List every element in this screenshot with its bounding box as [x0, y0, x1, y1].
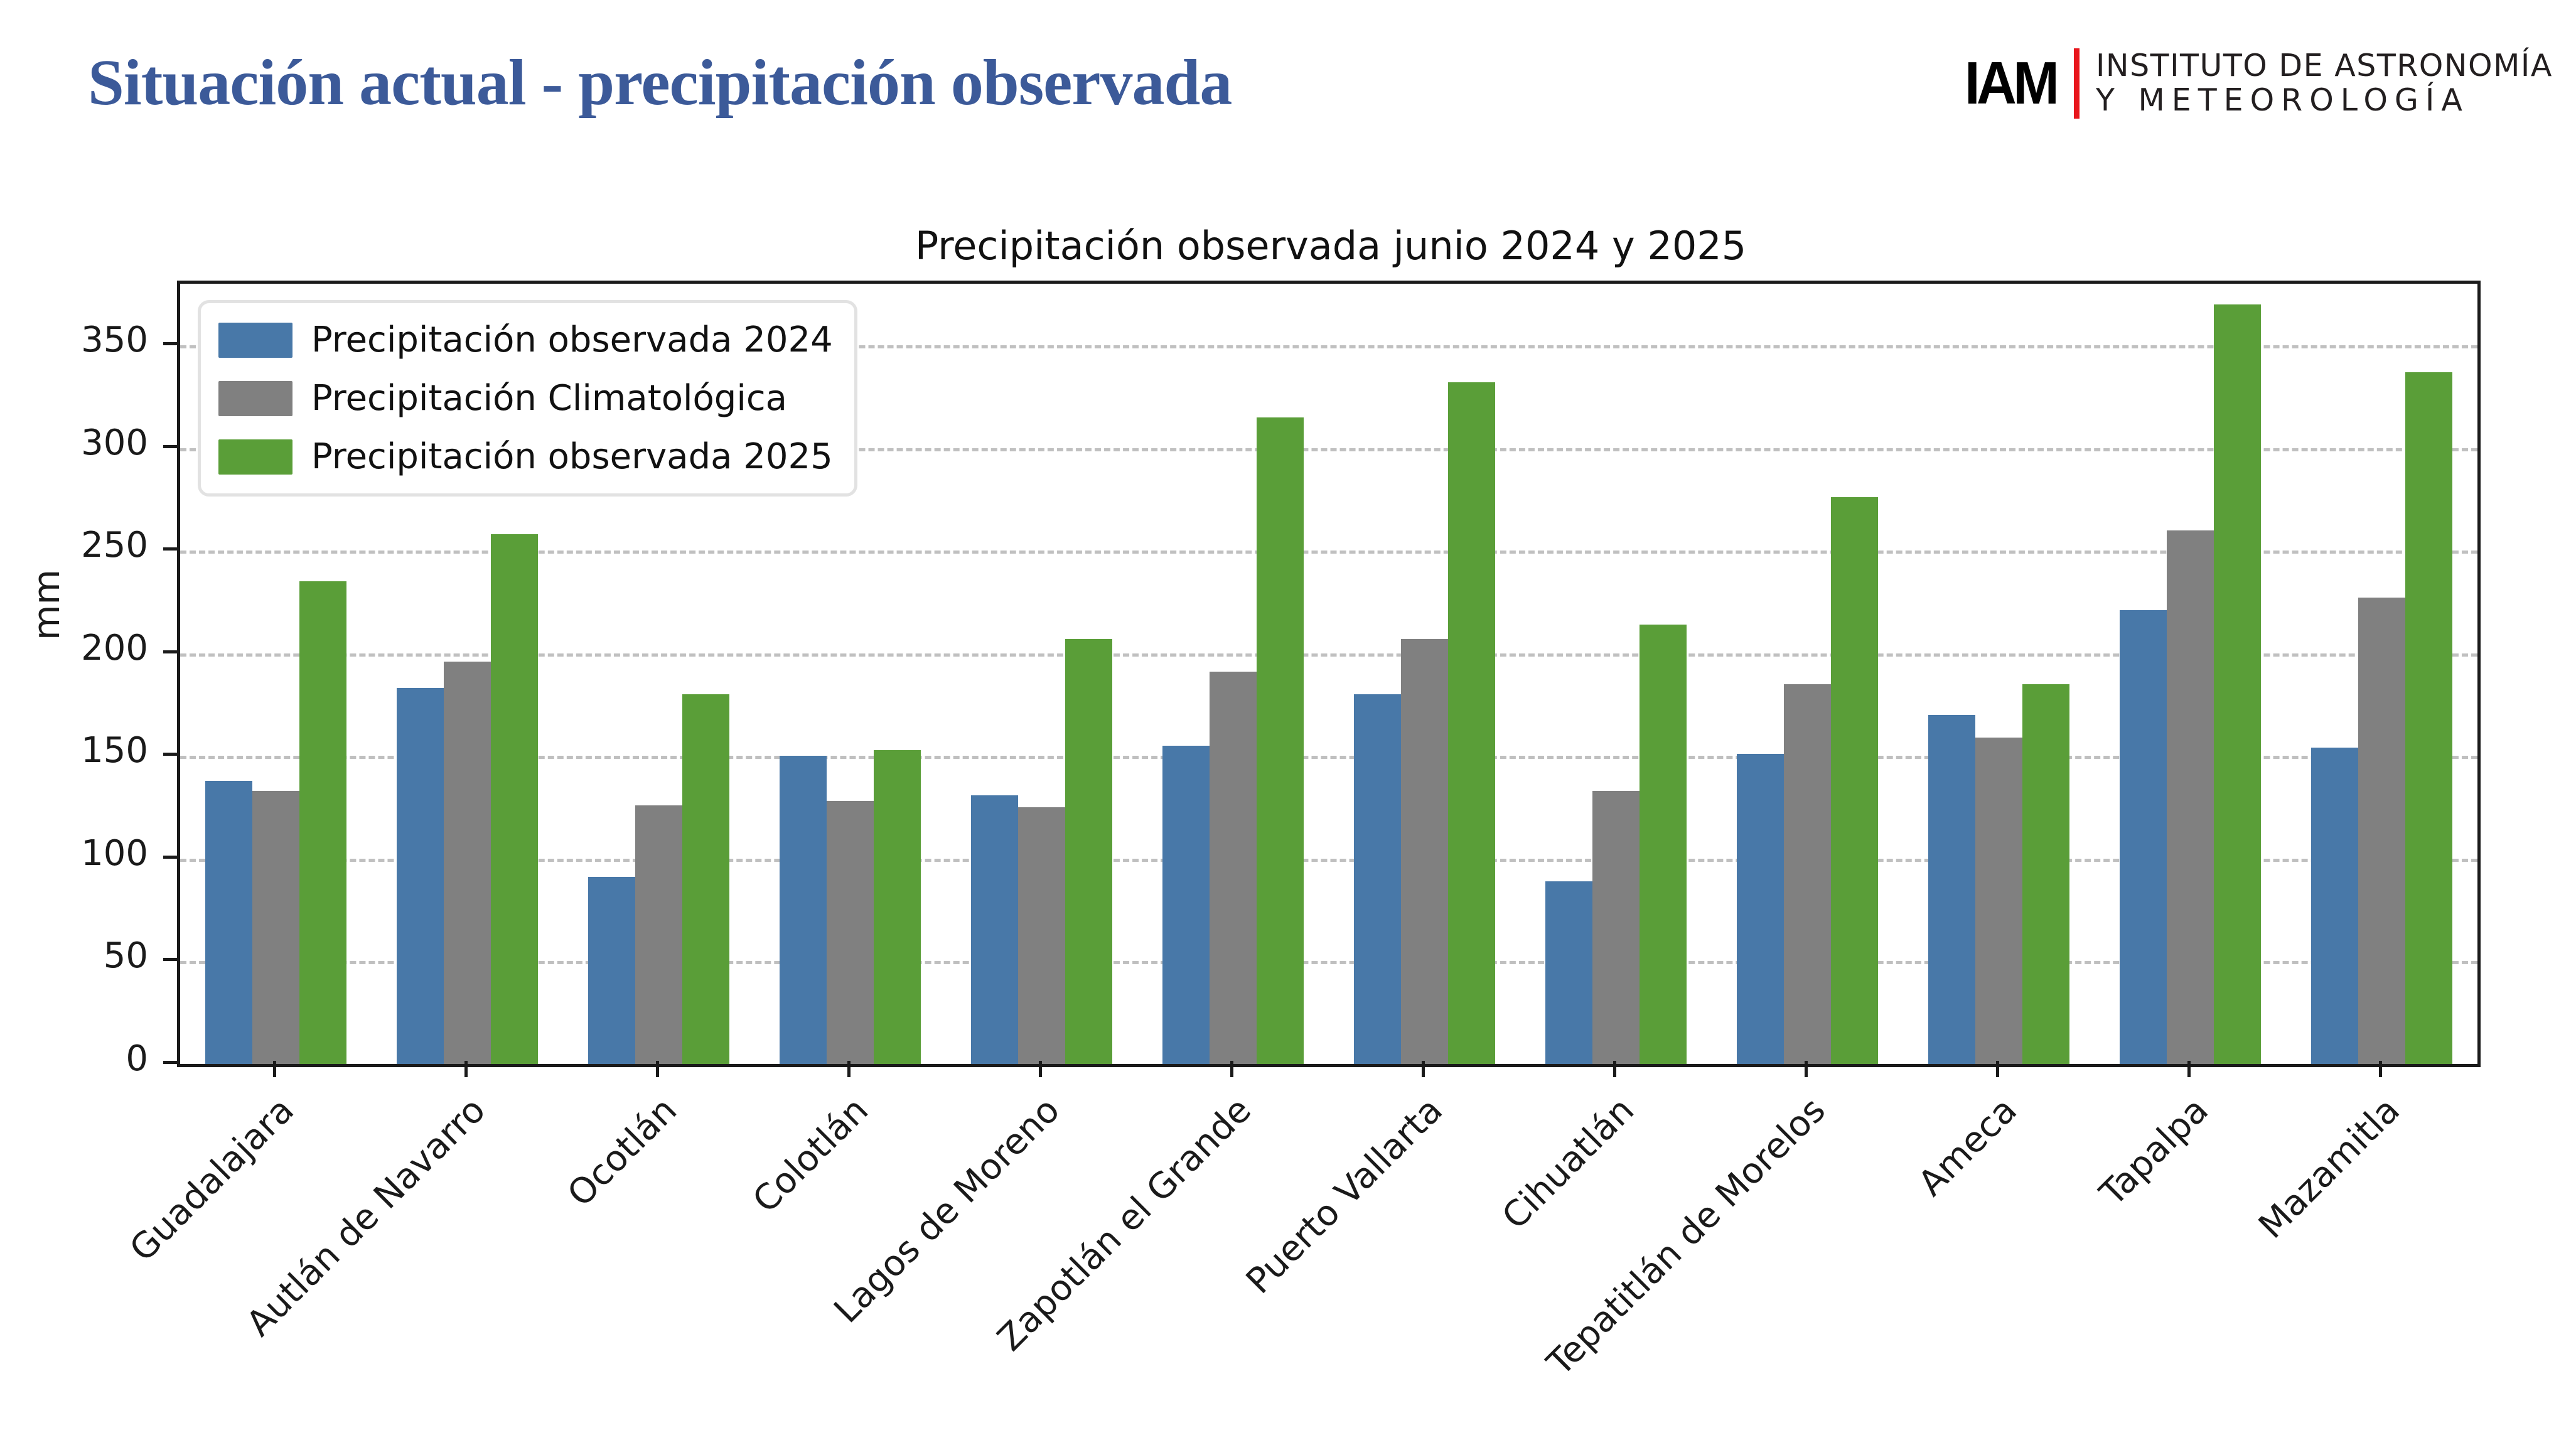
y-axis-label: mm: [25, 569, 68, 640]
bar: [1784, 684, 1831, 1064]
bar: [1065, 639, 1112, 1064]
bar: [397, 688, 444, 1064]
bar: [1592, 791, 1640, 1064]
x-axis-tick: [1613, 1061, 1616, 1077]
x-axis-tick: [1422, 1061, 1425, 1077]
bar: [1448, 382, 1495, 1064]
bar: [971, 795, 1018, 1065]
legend-swatch: [218, 439, 292, 475]
x-axis-tick: [2379, 1061, 2382, 1077]
legend-item[interactable]: Precipitación Climatológica: [218, 378, 833, 419]
bar: [1401, 639, 1448, 1064]
y-axis-tick-label: 0: [126, 1038, 148, 1079]
y-axis-tick-label: 50: [104, 935, 148, 976]
bar: [1210, 672, 1257, 1064]
bar: [1257, 417, 1304, 1064]
bar: [444, 662, 491, 1064]
bar: [299, 581, 346, 1064]
y-axis-tick-label: 250: [81, 525, 148, 566]
bar: [588, 877, 635, 1064]
legend-label: Precipitación observada 2024: [311, 320, 833, 360]
x-axis-tick: [847, 1061, 851, 1077]
x-axis-tick: [1805, 1061, 1808, 1077]
y-axis-tick: [163, 753, 177, 756]
bar: [2022, 684, 2069, 1064]
bar: [2405, 372, 2452, 1064]
bar: [1545, 881, 1592, 1064]
x-axis-tick: [1230, 1061, 1233, 1077]
y-axis-tick: [163, 958, 177, 961]
logo-line-2: Y METEOROLOGÍA: [2096, 83, 2553, 118]
legend-item[interactable]: Precipitación observada 2024: [218, 320, 833, 360]
bar: [1737, 754, 1784, 1064]
y-axis-tick-label: 350: [81, 320, 148, 360]
y-axis-tick-label: 100: [81, 833, 148, 874]
slide-header: Situación actual - precipitación observa…: [0, 0, 2576, 188]
legend-label: Precipitación Climatológica: [311, 378, 787, 419]
x-axis-tick: [464, 1061, 468, 1077]
bar: [780, 756, 827, 1064]
y-axis-tick: [163, 856, 177, 859]
chart-legend: Precipitación observada 2024Precipitació…: [198, 300, 857, 497]
bar: [874, 750, 921, 1064]
legend-item[interactable]: Precipitación observada 2025: [218, 436, 833, 477]
y-axis-tick: [163, 547, 177, 551]
x-axis-tick: [2187, 1061, 2191, 1077]
x-axis-tick: [656, 1061, 659, 1077]
logo-wordmark: IAM: [1965, 53, 2056, 114]
legend-swatch: [218, 323, 292, 358]
bar: [2167, 530, 2214, 1064]
bar: [682, 694, 729, 1064]
chart-title: Precipitación observada junio 2024 y 202…: [176, 223, 2486, 269]
plot-box: Precipitación observada 2024Precipitació…: [177, 281, 2481, 1067]
bar: [1640, 625, 1687, 1064]
bar: [1975, 738, 2022, 1064]
x-axis-tick: [273, 1061, 276, 1077]
y-axis-tick: [163, 445, 177, 448]
y-axis-tick: [163, 1061, 177, 1064]
bar: [2311, 748, 2358, 1064]
chart-figure: Precipitación observada junio 2024 y 202…: [0, 188, 2576, 1440]
y-axis-tick: [163, 650, 177, 653]
page-title: Situación actual - precipitación observa…: [88, 45, 1232, 120]
bar: [491, 534, 538, 1064]
y-axis-tick: [163, 342, 177, 345]
bar: [1018, 807, 1065, 1064]
y-axis-tick-label: 150: [81, 730, 148, 771]
x-axis-tick: [1996, 1061, 1999, 1077]
logo-line-1: INSTITUTO DE ASTRONOMÍA: [2096, 49, 2553, 83]
bar: [1354, 694, 1401, 1064]
bar: [1831, 497, 1878, 1064]
legend-label: Precipitación observada 2025: [311, 436, 833, 477]
bar: [827, 801, 874, 1064]
bar: [1162, 746, 1210, 1064]
legend-swatch: [218, 381, 292, 416]
y-axis-tick-label: 200: [81, 628, 148, 669]
y-axis-tick-label: 300: [81, 422, 148, 463]
bar: [2120, 610, 2167, 1064]
bar: [205, 781, 252, 1064]
bar: [252, 791, 299, 1064]
logo-institute-text: INSTITUTO DE ASTRONOMÍA Y METEOROLOGÍA: [2096, 49, 2553, 118]
x-axis-tick: [1039, 1061, 1042, 1077]
logo-divider-bar: [2074, 48, 2080, 119]
bar: [1928, 715, 1975, 1064]
bar: [2358, 598, 2405, 1064]
iam-logo: IAM INSTITUTO DE ASTRONOMÍA Y METEOROLOG…: [1965, 43, 2553, 124]
bar: [2214, 304, 2261, 1064]
bar: [635, 805, 682, 1064]
